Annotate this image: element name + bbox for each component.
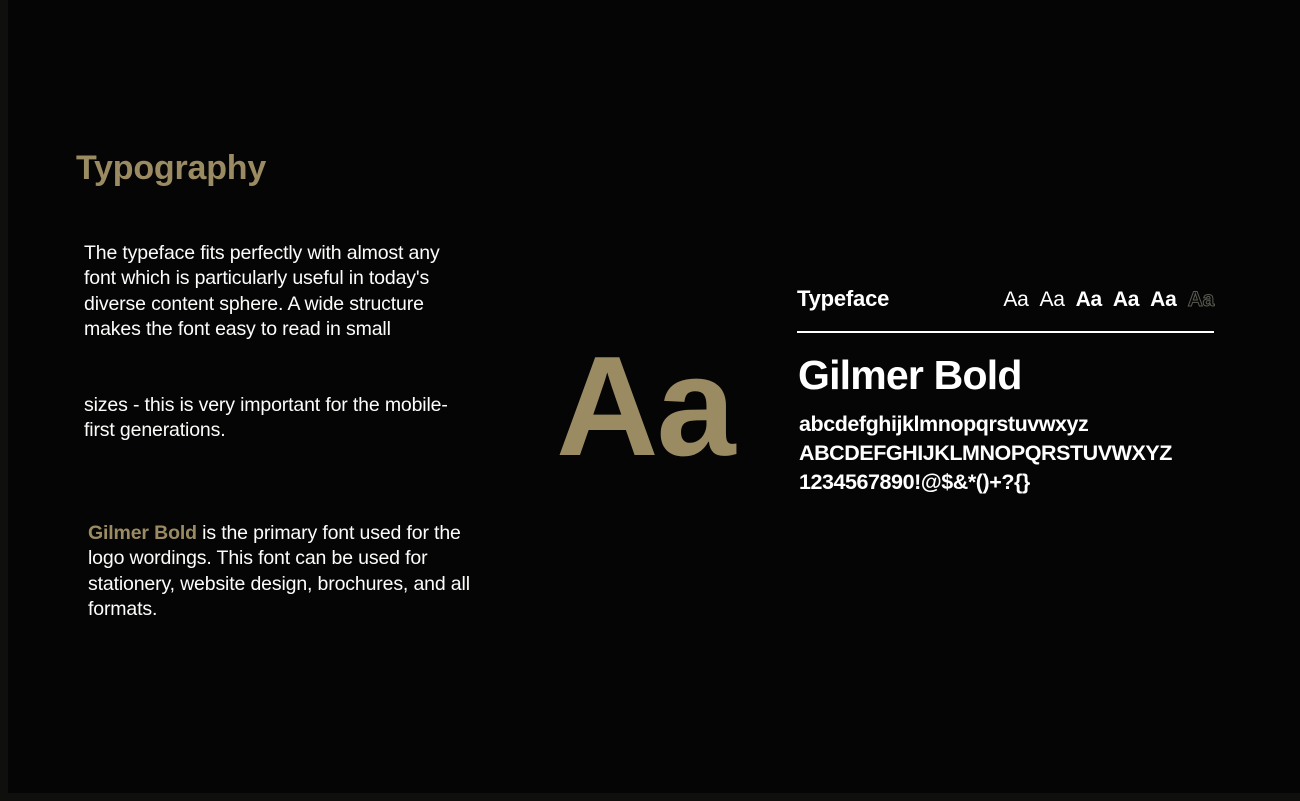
intro-paragraph: The typeface fits perfectly with almost … bbox=[84, 241, 474, 343]
charset-lowercase: abcdefghijklmnopqrstuvwxyz bbox=[799, 410, 1219, 439]
usage-paragraph-highlight: Gilmer Bold bbox=[88, 522, 197, 544]
sizes-paragraph: sizes - this is very important for the m… bbox=[84, 393, 464, 444]
weight-sample-bold: Aa bbox=[1113, 288, 1139, 312]
weight-sample-regular: Aa bbox=[1040, 288, 1065, 312]
page-title: Typography bbox=[76, 150, 476, 187]
weight-sample-heavy: Aa bbox=[1150, 288, 1177, 312]
usage-paragraph: Gilmer Bold is the primary font used for… bbox=[88, 521, 470, 623]
typeface-header-row: Typeface Aa Aa Aa Aa Aa Aa bbox=[797, 286, 1214, 320]
weight-sample-medium: Aa bbox=[1076, 288, 1102, 312]
typeface-specimen-panel: Typeface Aa Aa Aa Aa Aa Aa Gilmer Bold a… bbox=[797, 286, 1214, 320]
typeface-label: Typeface bbox=[797, 286, 889, 312]
weight-sample-outline: Aa bbox=[1188, 288, 1214, 312]
charset-numerals-symbols: 1234567890!@$&*()+?{} bbox=[799, 468, 1219, 497]
left-content-column: Typography The typeface fits perfectly w… bbox=[76, 150, 476, 187]
large-aa-specimen: Aa bbox=[556, 336, 734, 478]
font-name: Gilmer Bold bbox=[798, 354, 1022, 397]
character-set: abcdefghijklmnopqrstuvwxyz ABCDEFGHIJKLM… bbox=[799, 410, 1219, 497]
weight-sample-light: Aa bbox=[1003, 288, 1028, 312]
charset-uppercase: ABCDEFGHIJKLMNOPQRSTUVWXYZ bbox=[799, 439, 1219, 468]
typography-slide: Typography The typeface fits perfectly w… bbox=[0, 0, 1300, 801]
weight-scale: Aa Aa Aa Aa Aa Aa bbox=[1003, 288, 1214, 312]
header-divider-rule bbox=[797, 331, 1214, 333]
